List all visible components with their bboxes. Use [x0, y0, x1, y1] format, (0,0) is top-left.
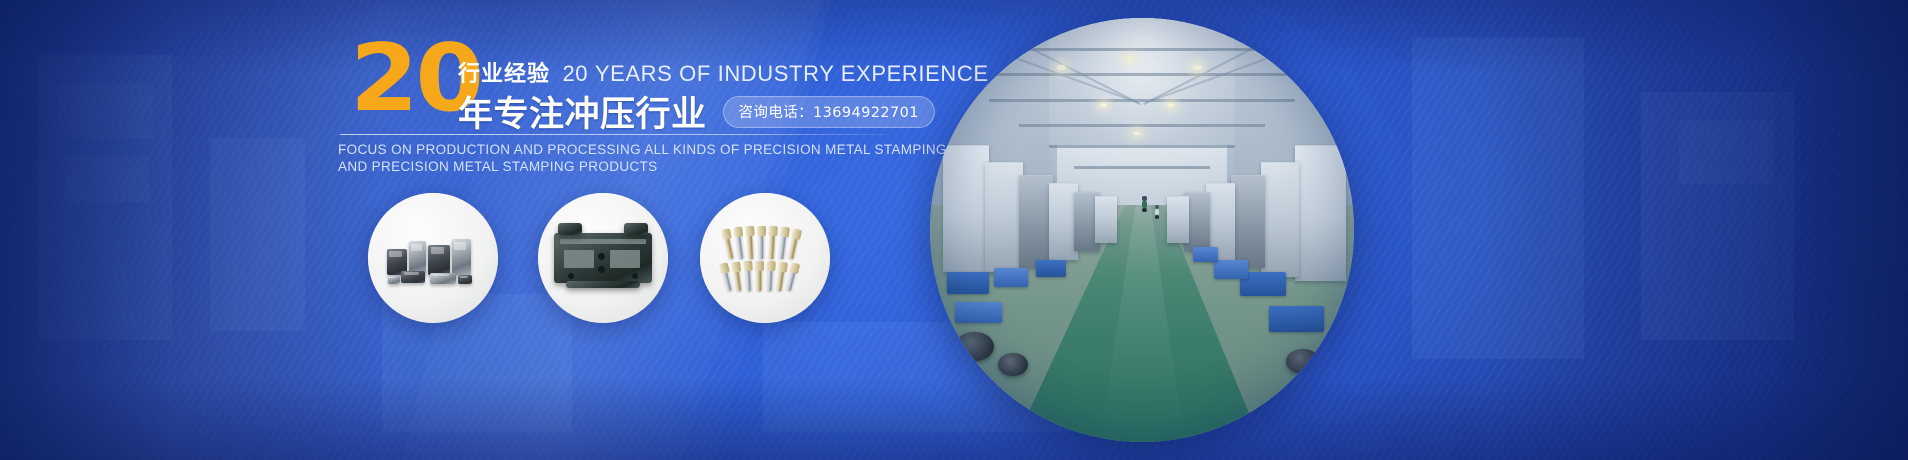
description-line-1: FOCUS ON PRODUCTION AND PROCESSING ALL K… — [338, 142, 898, 159]
headline-cn-small: 行业经验 — [458, 62, 550, 87]
product-photo-pins — [700, 193, 830, 323]
headline-en-small: 20 YEARS OF INDUSTRY EXPERIENCE — [562, 61, 988, 86]
description-line-2: AND PRECISION METAL STAMPING PRODUCTS — [338, 159, 898, 176]
headline-line-1: 行业经验 20 YEARS OF INDUSTRY EXPERIENCE — [458, 56, 989, 88]
headline-block: 20 行业经验 20 YEARS OF INDUSTRY EXPERIENCE … — [336, 42, 896, 128]
headline-line-2: 年专注冲压行业 咨询电话：13694922701 — [458, 86, 935, 137]
photo-backdrop — [700, 193, 830, 323]
phone-badge[interactable]: 咨询电话：13694922701 — [723, 96, 935, 128]
description-text: FOCUS ON PRODUCTION AND PROCESSING ALL K… — [338, 142, 898, 175]
promo-banner: 20 行业经验 20 YEARS OF INDUSTRY EXPERIENCE … — [0, 0, 1908, 460]
headline-row: 20 行业经验 20 YEARS OF INDUSTRY EXPERIENCE … — [336, 42, 896, 128]
product-photo-mold — [538, 193, 668, 323]
horizontal-divider — [340, 134, 888, 135]
factory-inner-vignette — [930, 18, 1354, 442]
product-photo-connectors — [368, 193, 498, 323]
headline-cn-large: 年专注冲压行业 — [458, 86, 707, 137]
factory-photo-circle — [930, 18, 1354, 442]
